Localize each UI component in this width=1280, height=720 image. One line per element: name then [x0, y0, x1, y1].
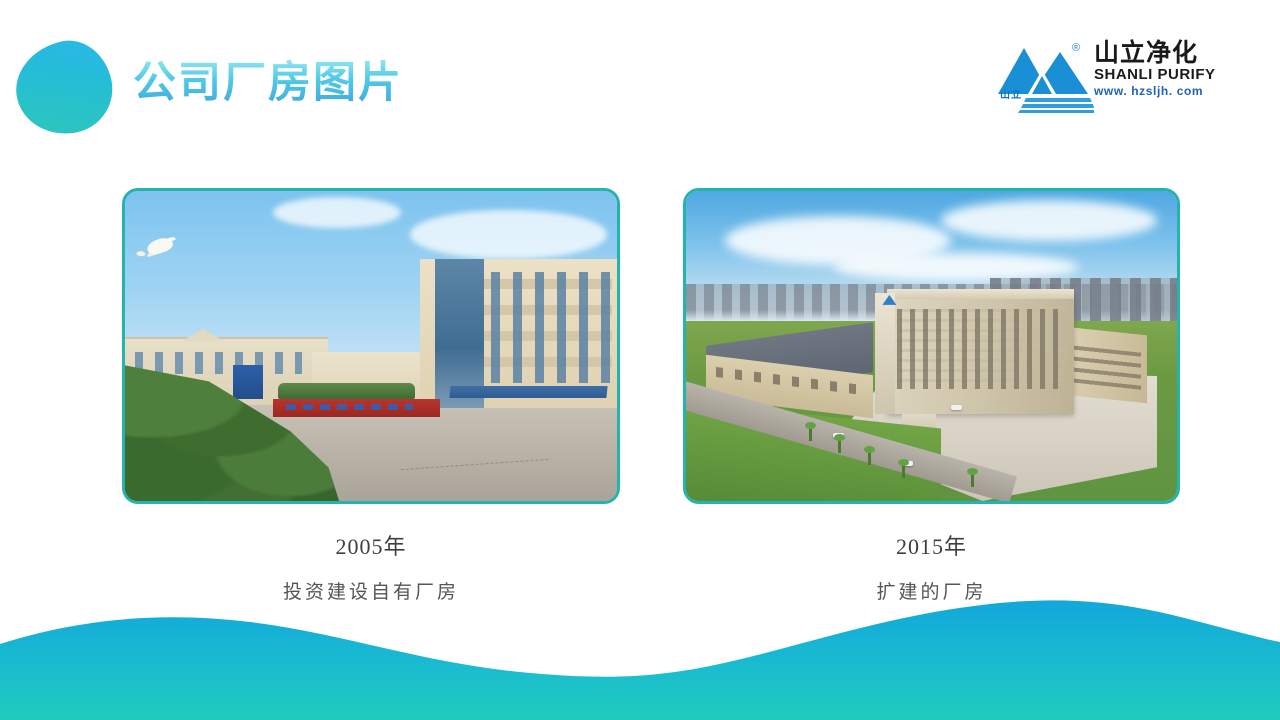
caption-year: 2015年 — [683, 534, 1180, 560]
logo-text-block: 山立净化 SHANLI PURIFY www. hzsljh. com — [1094, 40, 1222, 98]
tower-windows — [469, 272, 612, 384]
palm-tree — [902, 464, 905, 478]
bottom-wave-decoration — [0, 592, 1280, 720]
registered-trademark-icon: ® — [1072, 42, 1080, 54]
company-logo: ® 山立 山立净化 SHANLI PURIFY www. hzsljh. com — [998, 38, 1218, 118]
palm-tree — [809, 427, 812, 441]
entrance-canopy — [449, 386, 608, 398]
cloud — [833, 253, 1079, 281]
hedge-row — [278, 383, 416, 399]
logo-company-name-cn: 山立净化 — [1094, 40, 1222, 66]
cloud — [941, 200, 1157, 240]
logo-company-name-en: SHANLI PURIFY — [1094, 66, 1222, 83]
factory-photo-2005[interactable] — [122, 188, 620, 504]
palm-tree — [971, 473, 974, 487]
right-dormitory-building — [1064, 326, 1147, 403]
photo-2015-scene — [686, 191, 1177, 501]
car — [951, 405, 962, 410]
workshop-windows — [135, 352, 302, 374]
cloud — [273, 197, 401, 228]
logo-mark-label: 山立 — [1000, 86, 1022, 101]
caption-year: 2005年 — [122, 534, 620, 560]
main-building-roof — [887, 289, 1074, 300]
blue-door — [233, 365, 263, 399]
stair-tower — [875, 293, 895, 414]
palm-tree — [868, 451, 871, 465]
cloud — [410, 210, 607, 260]
blob-decoration — [7, 33, 120, 143]
logo-website-url: www. hzsljh. com — [1094, 84, 1222, 98]
red-banner-sign — [273, 399, 440, 418]
factory-photo-2015[interactable] — [683, 188, 1180, 504]
photo-2005-scene — [125, 191, 617, 501]
palm-tree — [838, 439, 841, 453]
main-building-facade-windows — [897, 309, 1064, 390]
page-title: 公司厂房图片 — [133, 60, 403, 107]
